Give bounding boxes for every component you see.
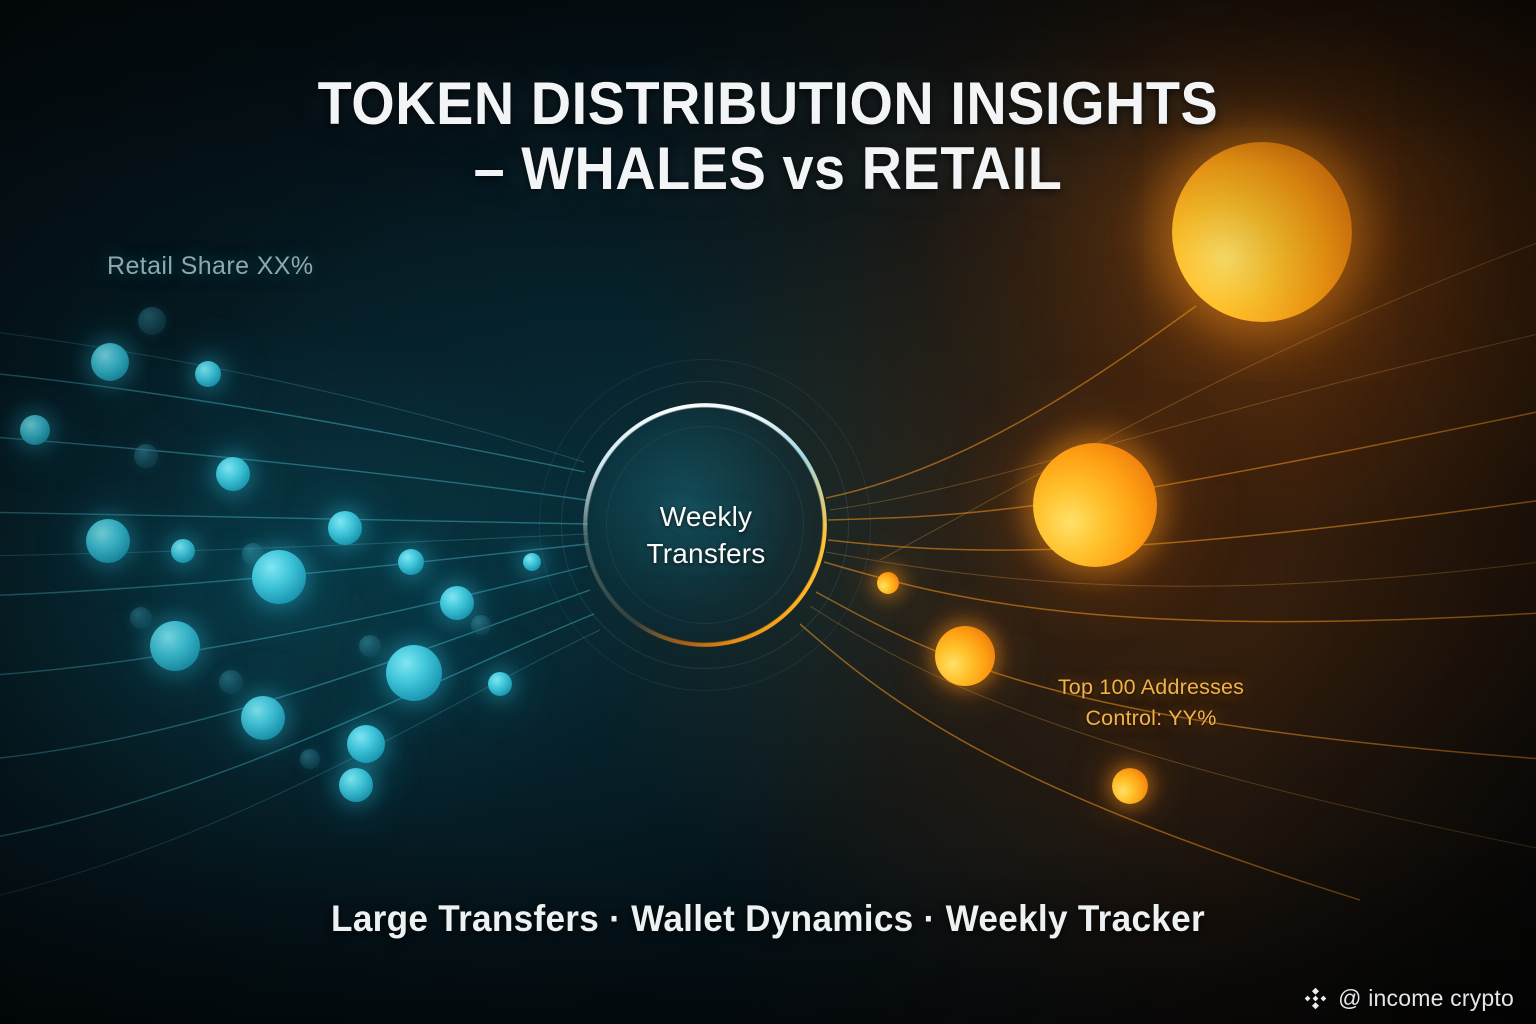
infographic-canvas: TOKEN DISTRIBUTION INSIGHTS – WHALES vs … <box>0 0 1536 1024</box>
watermark-handle: @ income crypto <box>1338 985 1514 1012</box>
binance-diamond-icon <box>1302 985 1329 1012</box>
hub-label: Weekly Transfers <box>596 498 816 572</box>
watermark: @ income crypto <box>1302 985 1514 1012</box>
footer-tagline: Large Transfers · Wallet Dynamics · Week… <box>38 898 1497 940</box>
retail-share-label: Retail Share XX% <box>107 252 314 281</box>
page-title: TOKEN DISTRIBUTION INSIGHTS – WHALES vs … <box>54 72 1482 202</box>
whale-control-label: Top 100 Addresses Control: YY% <box>1042 672 1260 733</box>
